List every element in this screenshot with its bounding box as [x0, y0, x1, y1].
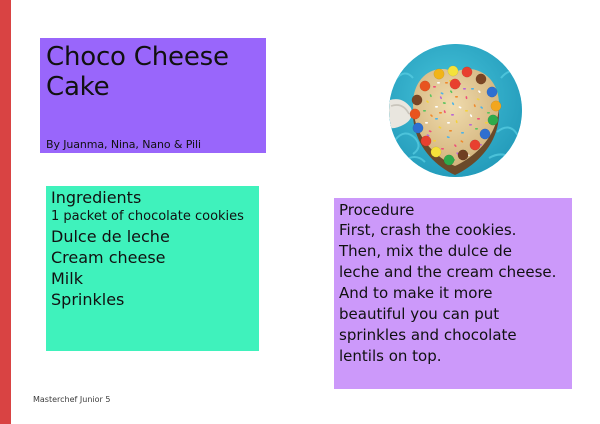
ingredients-card[interactable]: Ingredients 1 packet of chocolate cookie… — [46, 186, 259, 351]
cake-photo-illustration — [389, 44, 522, 177]
slide-canvas: Choco Cheese Cake By Juanma, Nina, Nano … — [0, 0, 600, 424]
page-title: Choco Cheese Cake — [46, 42, 260, 102]
procedure-body: First, crash the cookies. Then, mix the … — [339, 220, 567, 367]
left-accent-bar — [0, 0, 11, 424]
list-item: 1 packet of chocolate cookies — [51, 208, 253, 226]
procedure-card[interactable]: Procedure First, crash the cookies. Then… — [334, 198, 572, 389]
slide-footer: Masterchef Junior 5 — [33, 394, 110, 405]
cake-photo[interactable] — [389, 44, 522, 177]
ingredients-heading: Ingredients — [51, 188, 253, 208]
title-byline: By Juanma, Nina, Nano & Pili — [46, 138, 201, 152]
list-item: Sprinkles — [51, 289, 253, 310]
procedure-heading: Procedure — [339, 200, 567, 220]
list-item: Cream cheese — [51, 247, 253, 268]
list-item: Milk — [51, 268, 253, 289]
list-item: Dulce de leche — [51, 226, 253, 247]
title-card[interactable]: Choco Cheese Cake By Juanma, Nina, Nano … — [40, 38, 266, 153]
ingredients-list: 1 packet of chocolate cookies Dulce de l… — [51, 208, 253, 310]
